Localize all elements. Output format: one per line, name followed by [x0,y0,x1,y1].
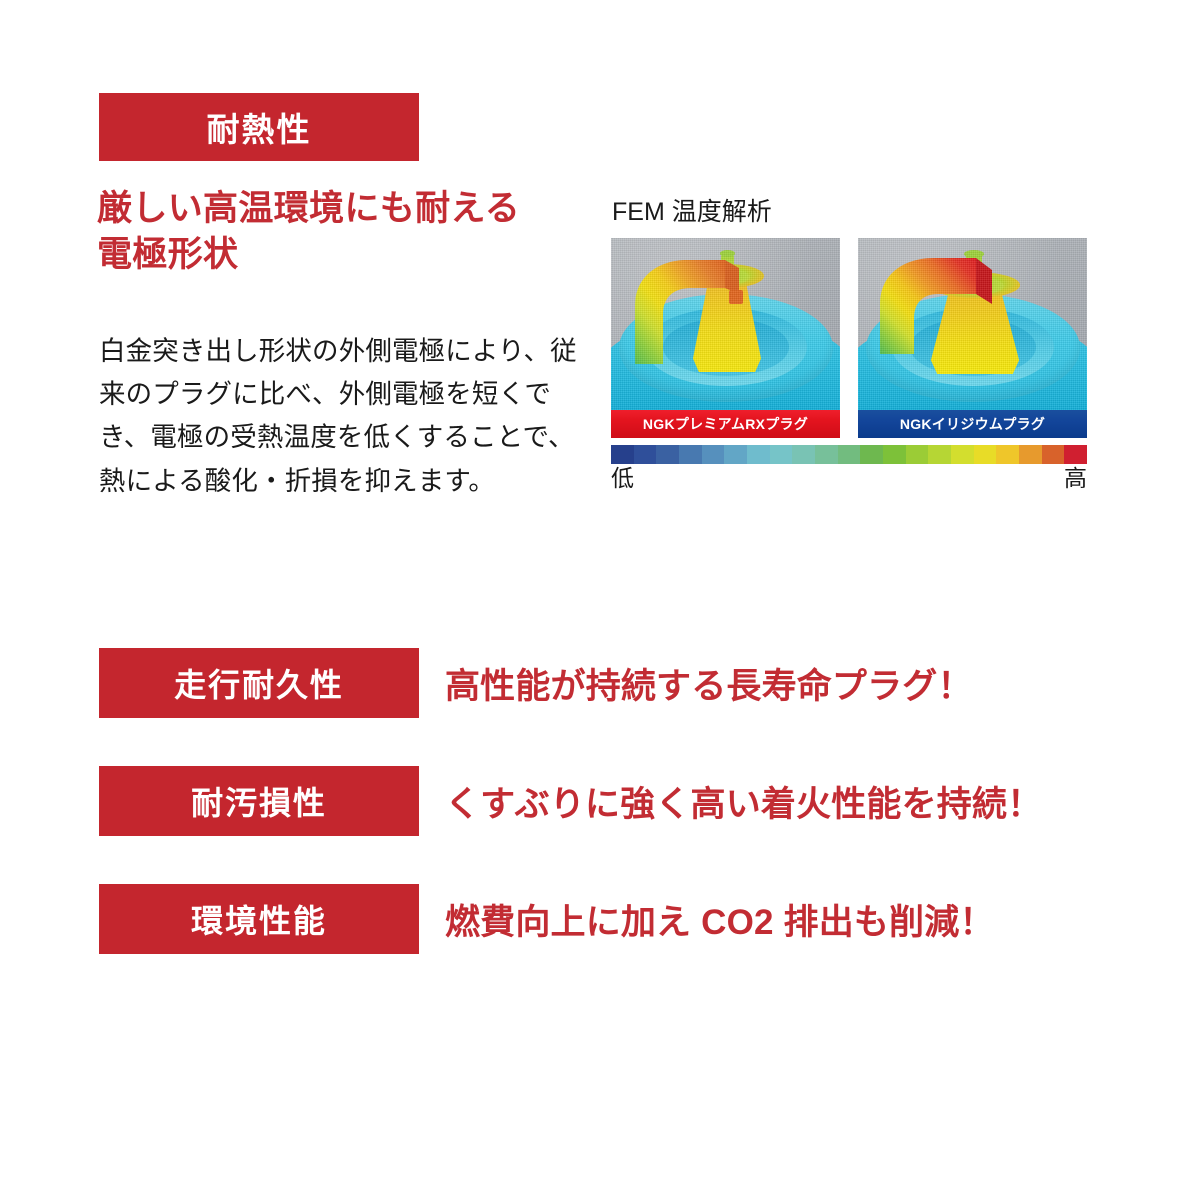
fem-scale-swatch-18 [1019,445,1042,464]
tag-driving-durability: 走行耐久性 [99,648,419,718]
fem-label-premium-rx: NGKプレミアムRXプラグ [611,410,840,438]
heat-subtitle-line-1: 厳しい高温環境にも耐える [97,186,597,232]
fem-scale-swatch-0 [611,445,634,464]
heat-subtitle: 厳しい高温環境にも耐える 電極形状 [97,186,597,278]
fem-scale-swatch-5 [724,445,747,464]
fem-render-iridium: NGKイリジウムプラグ [858,238,1087,438]
tag-heat-resistance-label: 耐熱性 [207,103,312,151]
tag-label: 耐汚損性 [191,778,327,824]
fem-color-scale [611,445,1087,464]
fem-figure-group: NGKプレミアムRXプラグ [611,238,1087,438]
fem-scale-swatch-14 [928,445,951,464]
tag-label: 走行耐久性 [174,660,344,706]
fem-scale-swatch-15 [951,445,974,464]
fem-render-premium-rx: NGKプレミアムRXプラグ [611,238,840,438]
heat-body-paragraph: 白金突き出し形状の外側電極により、従来のプラグに比べ、外側電極を短くでき、電極の… [99,330,589,503]
fem-scale-swatch-3 [679,445,702,464]
fem-scale-swatch-10 [838,445,861,464]
fem-label-text: NGKイリジウムプラグ [900,414,1045,434]
feature-row: 環境性能 燃費向上に加え CO2 排出も削減！ [99,884,1109,954]
feature-text: くすぶりに強く高い着火性能を持続！ [445,776,1042,827]
feature-row: 耐汚損性 くすぶりに強く高い着火性能を持続！ [99,766,1109,836]
fem-scale-swatch-7 [770,445,793,464]
fem-scale-swatch-4 [702,445,725,464]
fem-scale-swatch-17 [996,445,1019,464]
fem-scale-swatch-12 [883,445,906,464]
fem-label-iridium: NGKイリジウムプラグ [858,410,1087,438]
fem-scale-low-label: 低 [611,466,634,491]
feature-row-group: 走行耐久性 高性能が持続する長寿命プラグ！ 耐汚損性 くすぶりに強く高い着火性能… [99,648,1109,1002]
heat-subtitle-line-2: 電極形状 [97,232,597,278]
fem-scale-swatch-19 [1042,445,1065,464]
fem-scale-swatch-8 [792,445,815,464]
fem-scale-swatch-2 [656,445,679,464]
ground-electrode-hook-icon [629,254,751,366]
ground-electrode-hook-icon [876,254,998,366]
fem-scale-swatch-16 [974,445,997,464]
feature-row: 走行耐久性 高性能が持続する長寿命プラグ！ [99,648,1109,718]
fem-analysis-panel: FEM 温度解析 [611,200,1087,491]
tag-heat-resistance: 耐熱性 [99,93,419,161]
feature-text: 燃費向上に加え CO2 排出も削減！ [445,894,995,945]
fem-scale-swatch-13 [906,445,929,464]
fem-scale-swatch-20 [1064,445,1087,464]
feature-text: 高性能が持続する長寿命プラグ！ [445,658,973,709]
fem-scale-swatch-9 [815,445,838,464]
heat-resistance-section: 耐熱性 厳しい高温環境にも耐える 電極形状 白金突き出し形状の外側電極により、従… [0,0,1200,600]
fem-scale-swatch-11 [860,445,883,464]
tag-label: 環境性能 [191,896,327,942]
fem-label-text: NGKプレミアムRXプラグ [643,414,808,434]
fem-color-scale-labels: 低 高 [611,466,1087,491]
fem-figure-iridium: NGKイリジウムプラグ [858,238,1087,438]
fem-scale-swatch-6 [747,445,770,464]
fem-figure-premium-rx: NGKプレミアムRXプラグ [611,238,840,438]
fem-caption: FEM 温度解析 [612,200,1087,225]
fem-scale-high-label: 高 [1064,466,1087,491]
tag-environmental-performance: 環境性能 [99,884,419,954]
fem-scale-swatch-1 [634,445,657,464]
tag-fouling-resistance: 耐汚損性 [99,766,419,836]
